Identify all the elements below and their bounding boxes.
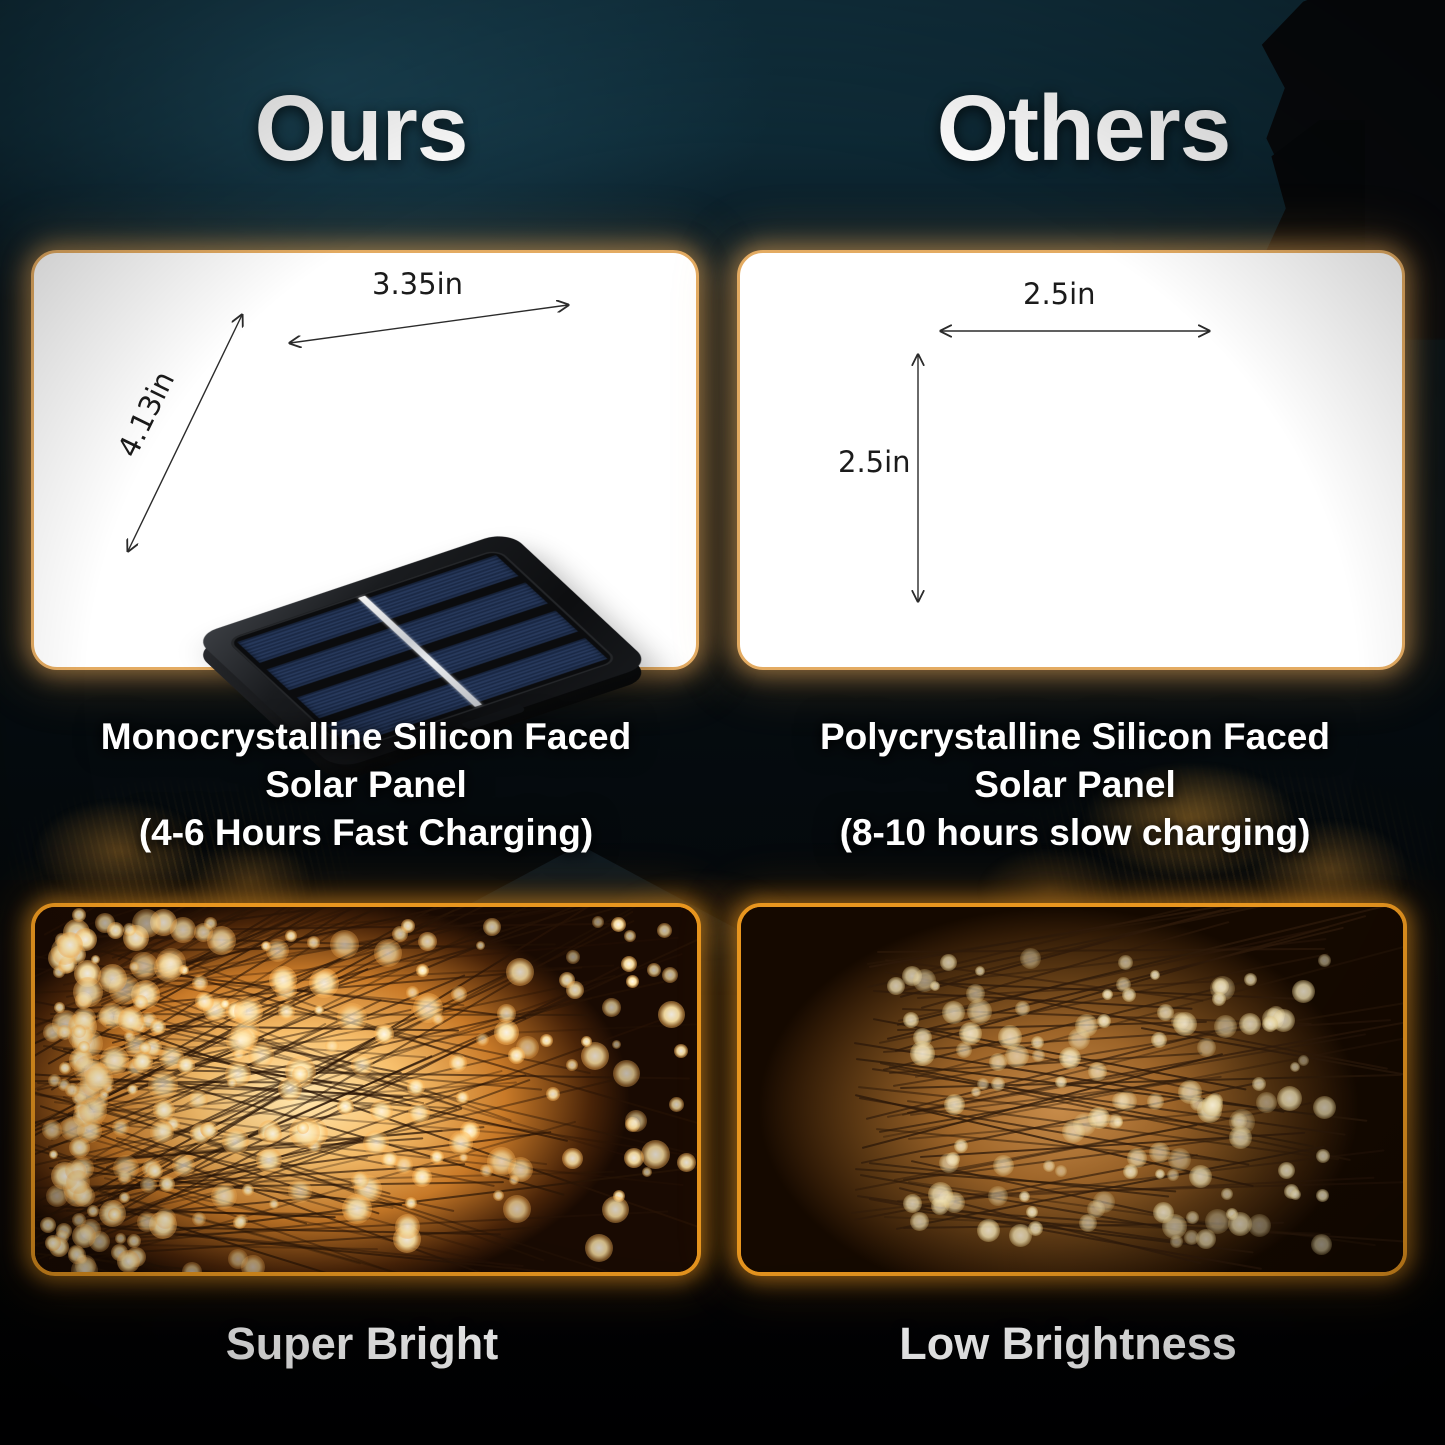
fairy-light-led <box>913 969 936 992</box>
fairy-light-led <box>942 1001 965 1024</box>
fairy-light-led <box>78 1041 90 1053</box>
fairy-light-led <box>1149 1142 1170 1163</box>
fairy-light-led <box>1153 1202 1174 1223</box>
fairy-light-led <box>508 1157 533 1182</box>
fairy-light-led <box>674 1044 688 1058</box>
fairy-light-led <box>374 939 402 967</box>
fairy-light-led <box>115 1233 126 1244</box>
fairy-light-led <box>1318 954 1331 967</box>
fairy-light-led <box>1059 1047 1081 1069</box>
fairy-light-led <box>227 1078 237 1088</box>
fairy-light-led <box>228 1249 248 1269</box>
fairy-light-led <box>613 1060 640 1087</box>
fairy-light-led <box>621 956 637 972</box>
fairy-light-led <box>159 1176 175 1192</box>
fairy-light-led <box>611 917 626 932</box>
fairy-light-led <box>57 1025 72 1040</box>
fairy-light-led <box>172 1154 195 1177</box>
fairy-light-led <box>1112 1092 1130 1110</box>
caption-ours-line1: Monocrystalline Silicon Faced <box>46 713 686 761</box>
fairy-light-led <box>1212 992 1226 1006</box>
fairy-light-led <box>337 1003 367 1033</box>
fairy-light-led <box>1005 1044 1029 1068</box>
fairy-light-led <box>1256 1092 1277 1113</box>
fairy-light-led <box>374 1024 394 1044</box>
fairy-light-led <box>1298 1055 1309 1066</box>
fairy-light-led <box>1122 988 1136 1002</box>
fairy-light-led <box>657 923 672 938</box>
heading-ours: Ours <box>0 75 722 182</box>
fairy-light-led <box>449 1131 473 1155</box>
fairy-light-led <box>540 1034 553 1047</box>
caption-ours-line2: Solar Panel <box>46 761 686 809</box>
fairy-light-led <box>456 1091 469 1104</box>
fairy-light-led <box>405 1197 417 1209</box>
fairy-light-led <box>1147 1093 1164 1110</box>
fairy-light-led <box>325 1039 339 1053</box>
fairy-light-led <box>508 1047 525 1064</box>
heading-others: Others <box>722 75 1445 182</box>
fairy-light-led <box>903 1194 922 1213</box>
fairy-light-led <box>307 936 320 949</box>
fairy-light-led <box>1170 1235 1183 1248</box>
fairy-light-led <box>342 1194 372 1224</box>
fairy-light-led <box>264 1125 282 1143</box>
fairy-light-led <box>993 1155 1014 1176</box>
dim-glow-backdrop <box>741 907 1403 1272</box>
fairy-light-led <box>503 1195 531 1223</box>
fairy-light-led <box>285 930 297 942</box>
fairy-light-led <box>140 1176 157 1193</box>
fairy-light-led <box>939 1153 959 1173</box>
fairy-light-led <box>40 1217 56 1233</box>
fairy-light-led <box>182 1262 202 1276</box>
fairy-light-led <box>54 1002 65 1013</box>
fairy-light-led <box>1097 1014 1111 1028</box>
fairy-light-led <box>292 1066 308 1082</box>
photo-card-super-bright <box>31 903 701 1276</box>
fairy-light-led <box>137 1212 157 1232</box>
fairy-light-led <box>1088 1062 1107 1081</box>
fairy-light-led <box>91 955 100 964</box>
fairy-light-led <box>1150 970 1160 980</box>
fairy-light-led <box>493 1190 504 1201</box>
fairy-light-led <box>1316 1189 1329 1202</box>
fairy-light-led <box>1184 1230 1199 1245</box>
fairy-light-led <box>940 954 957 971</box>
fairy-light-led <box>476 1033 489 1046</box>
fairy-light-led <box>57 932 83 958</box>
fairy-light-led <box>647 963 661 977</box>
fairy-light-led <box>314 1005 324 1015</box>
fairy-light-led <box>988 1186 1008 1206</box>
fairy-light-led <box>967 999 992 1024</box>
fairy-light-led <box>1311 1234 1332 1255</box>
fairy-light-led <box>626 975 639 988</box>
fairy-light-led <box>132 1051 153 1072</box>
fairy-light-led <box>148 1070 178 1100</box>
dimension-arrow-height-ours <box>120 309 250 559</box>
fairy-light-led <box>392 926 408 942</box>
fairy-light-led <box>566 1059 578 1071</box>
fairy-light-led <box>132 909 161 938</box>
fairy-light-led <box>49 1150 58 1159</box>
fairy-light-led <box>581 1036 592 1047</box>
fairy-light-led <box>256 1147 282 1173</box>
fairy-light-led <box>1214 1015 1237 1038</box>
fairy-light-led <box>497 1004 516 1023</box>
fairy-light-led <box>954 1139 968 1153</box>
fairy-light-led <box>288 1179 312 1203</box>
fairy-light-led <box>220 999 230 1009</box>
fairy-light-led <box>641 1140 670 1169</box>
fairy-light-led <box>113 1155 139 1181</box>
fairy-light-led <box>269 1199 279 1209</box>
fairy-light-led <box>1157 1004 1174 1021</box>
fairy-light-led <box>1229 1126 1252 1149</box>
fairy-light-led <box>1015 1001 1030 1016</box>
fairy-light-led <box>910 1041 935 1066</box>
fairy-light-led <box>330 930 359 959</box>
fairy-light-led <box>1093 1191 1115 1213</box>
fairy-light-led <box>297 1122 309 1134</box>
fairy-light-led <box>562 1148 583 1169</box>
dimension-arrow-width-ours <box>284 301 574 349</box>
dimension-arrow-height-others <box>910 349 926 609</box>
fairy-light-led <box>624 1148 644 1168</box>
fairy-light-led <box>107 922 124 939</box>
photo-card-low-brightness <box>737 903 1407 1276</box>
fairy-light-led <box>1009 1224 1032 1247</box>
fairy-light-led <box>309 968 339 998</box>
fairy-light-led <box>1019 1191 1030 1202</box>
dimension-label-width-ours: 3.35in <box>372 267 463 301</box>
fairy-light-led <box>1189 1165 1212 1188</box>
fairy-light-led <box>45 1235 61 1251</box>
fairy-light-led <box>602 1196 629 1223</box>
fairy-light-led <box>416 964 429 977</box>
caption-others: Polycrystalline Silicon Faced Solar Pane… <box>755 713 1395 857</box>
fairy-light-led <box>117 1250 140 1273</box>
fairy-light-led <box>150 1019 166 1035</box>
fairy-light-led <box>139 1042 151 1054</box>
fairy-light-led <box>65 1083 79 1097</box>
label-low-brightness: Low Brightness <box>737 1318 1399 1370</box>
caption-ours-line3: (4-6 Hours Fast Charging) <box>46 809 686 857</box>
fairy-light-led <box>612 1040 621 1049</box>
fairy-light-led <box>381 1151 398 1168</box>
fairy-light-led <box>79 1097 107 1125</box>
fairy-light-led <box>991 1077 1005 1091</box>
fairy-light-led <box>1186 1211 1199 1224</box>
fairy-light-led <box>195 992 214 1011</box>
fairy-light-led <box>85 1064 113 1092</box>
fairy-light-led <box>476 941 485 950</box>
fairy-light-led <box>412 1167 432 1187</box>
fairy-light-led <box>407 1078 425 1096</box>
fairy-light-led <box>278 1003 295 1020</box>
fairy-light-led <box>192 1212 206 1226</box>
fairy-light-led <box>1032 1049 1045 1062</box>
fairy-light-led <box>677 1153 696 1172</box>
fairy-light-led <box>566 981 584 999</box>
fairy-light-led <box>42 1120 62 1140</box>
fairy-light-led <box>975 966 985 976</box>
fairy-light-led <box>207 926 236 955</box>
product-card-others: 2.5in 2.5in <box>737 250 1405 670</box>
fairy-light-led <box>1151 1032 1167 1048</box>
fairy-light-led <box>1290 1189 1301 1200</box>
fairy-light-led <box>1244 973 1257 986</box>
fairy-light-led <box>956 1042 972 1058</box>
fairy-light-led <box>46 1185 68 1207</box>
dimension-label-width-others: 2.5in <box>1023 277 1096 311</box>
fairy-light-led <box>602 998 621 1017</box>
fairy-light-led <box>1173 1012 1197 1036</box>
caption-others-line1: Polycrystalline Silicon Faced <box>755 713 1395 761</box>
fairy-light-led <box>642 1167 652 1177</box>
fairy-light-led <box>1102 989 1113 1000</box>
fairy-light-led <box>72 1224 96 1248</box>
fairy-light-led <box>432 1013 444 1025</box>
fairy-light-led <box>430 1150 444 1164</box>
fairy-light-led <box>351 1054 373 1076</box>
fairy-light-led <box>211 1183 237 1209</box>
fairy-light-led <box>153 1099 175 1121</box>
fairy-light-led <box>155 1208 176 1229</box>
fairy-light-led <box>1167 1169 1179 1181</box>
dimension-arrow-width-others <box>935 323 1215 339</box>
caption-others-line3: (8-10 hours slow charging) <box>755 809 1395 857</box>
fairy-light-led <box>1155 1169 1165 1179</box>
fairy-light-led <box>506 958 534 986</box>
fairy-light-led <box>1055 1165 1067 1177</box>
fairy-light-led <box>1043 1160 1055 1172</box>
fairy-light-led <box>966 984 985 1003</box>
fairy-light-led <box>658 1001 685 1028</box>
caption-others-line2: Solar Panel <box>755 761 1395 809</box>
fairy-light-led <box>449 1054 467 1072</box>
fairy-light-led <box>625 1110 647 1132</box>
fairy-light-led <box>234 997 263 1026</box>
fairy-light-led <box>87 1205 99 1217</box>
fairy-light-led <box>451 986 467 1002</box>
fairy-light-led <box>418 932 437 951</box>
fairy-light-led <box>66 1170 90 1194</box>
fairy-light-led <box>119 1192 130 1203</box>
caption-ours: Monocrystalline Silicon Faced Solar Pane… <box>46 713 686 857</box>
infographic-canvas: Ours Others 3.35in 4.13in <box>0 0 1445 1445</box>
fairy-light-led <box>222 1128 249 1155</box>
fairy-light-led <box>351 1171 369 1189</box>
fairy-light-led <box>1278 1162 1295 1179</box>
fairy-light-led <box>112 1119 129 1136</box>
fairy-light-led <box>226 1027 254 1055</box>
fairy-light-led <box>546 1087 560 1101</box>
fairy-light-led <box>59 1062 71 1074</box>
fairy-light-led <box>156 948 186 978</box>
fairy-light-led <box>188 1090 208 1110</box>
fairy-light-led <box>1313 1096 1336 1119</box>
fairy-light-led <box>370 1100 393 1123</box>
fairy-light-led <box>192 975 208 991</box>
fairy-light-led <box>624 930 636 942</box>
fairy-light-led <box>494 1020 519 1045</box>
fairy-light-led <box>395 1214 420 1239</box>
fairy-light-led <box>127 1234 141 1248</box>
fairy-light-led <box>1277 1086 1302 1111</box>
fairy-light-led <box>1202 1095 1223 1116</box>
fairy-light-led <box>662 967 678 983</box>
fairy-light-led <box>592 916 604 928</box>
fairy-light-led <box>1262 1016 1278 1032</box>
fairy-light-led <box>129 962 139 972</box>
fairy-light-led <box>235 1214 248 1227</box>
fairy-light-led <box>408 1102 430 1124</box>
fairy-light-led <box>585 1234 613 1262</box>
fairy-light-led <box>1068 1028 1090 1050</box>
fairy-light-led <box>1205 1209 1230 1234</box>
fairy-lights-dim-photo <box>741 907 1403 1272</box>
fairy-light-led <box>118 1007 144 1033</box>
fairy-light-led <box>1239 1013 1261 1035</box>
fairy-light-led <box>483 918 501 936</box>
fairy-light-led <box>971 1087 981 1097</box>
fairy-light-led <box>1123 1164 1138 1179</box>
fairy-light-led <box>977 1219 1000 1242</box>
product-card-ours: 3.35in 4.13in <box>31 250 699 670</box>
fairy-light-led <box>1113 1117 1123 1127</box>
fairy-light-led <box>242 1184 254 1196</box>
fairy-light-led <box>269 966 297 994</box>
fairy-light-led <box>1020 948 1041 969</box>
fairy-light-led <box>177 1056 195 1074</box>
fairy-light-led <box>1231 1113 1247 1129</box>
fairy-light-led <box>201 1122 218 1139</box>
fairy-light-led <box>1088 1107 1110 1129</box>
dimension-label-height-others: 2.5in <box>838 445 911 479</box>
fairy-light-led <box>1026 1206 1038 1218</box>
fairy-light-led <box>1197 1038 1216 1057</box>
fairy-light-led <box>1228 1212 1252 1236</box>
fairy-light-led <box>1055 1076 1067 1088</box>
fairy-light-led <box>72 908 86 922</box>
fairy-light-led <box>1221 1188 1233 1200</box>
fairy-light-led <box>1292 980 1315 1003</box>
fairy-light-led <box>170 917 196 943</box>
fairy-light-led <box>1118 955 1133 970</box>
fairy-light-led <box>1316 1149 1330 1163</box>
fairy-light-led <box>669 1097 684 1112</box>
fairy-light-led <box>944 1094 965 1115</box>
fairy-light-led <box>910 1212 929 1231</box>
fairy-light-led <box>1168 1148 1191 1171</box>
fairy-light-led <box>48 1074 61 1087</box>
fairy-light-led <box>266 939 289 962</box>
fairy-light-led <box>337 1098 354 1115</box>
fairy-light-led <box>108 1208 121 1221</box>
fairy-light-led <box>1062 1120 1085 1143</box>
fairy-light-led <box>1252 1077 1266 1091</box>
fairy-light-led <box>1031 1036 1044 1049</box>
fairy-light-led <box>150 1120 174 1144</box>
fairy-light-led <box>928 1182 953 1207</box>
fairy-light-led <box>903 1012 919 1028</box>
fairy-light-led <box>566 950 580 964</box>
fairy-lights-bright-photo <box>35 907 697 1272</box>
fairy-light-led <box>73 1025 86 1038</box>
fairy-light-led <box>127 1084 138 1095</box>
fairy-light-led <box>73 977 103 1007</box>
label-super-bright: Super Bright <box>31 1318 693 1370</box>
